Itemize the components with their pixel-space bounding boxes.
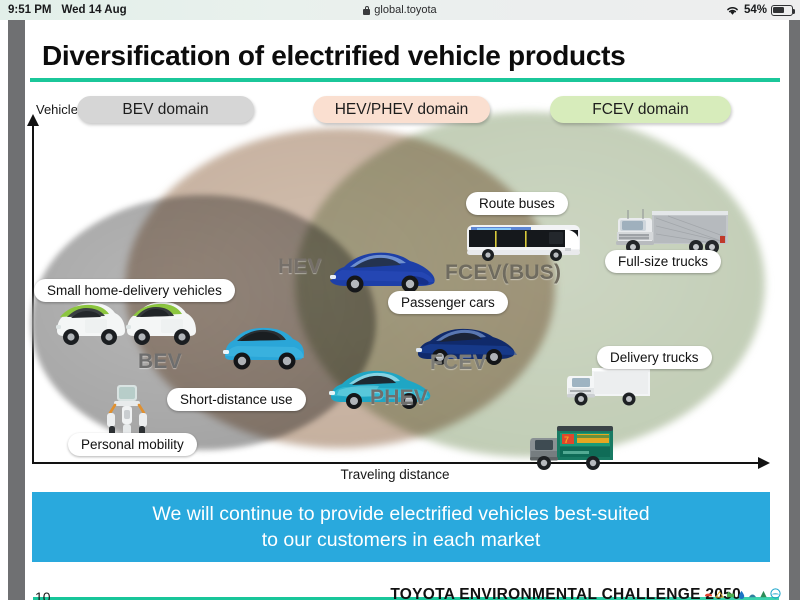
domain-pill-fcev[interactable]: FCEV domain	[550, 96, 731, 123]
banner-line-1: We will continue to provide electrified …	[152, 501, 649, 527]
chart-area: Vehicle size Traveling distance	[25, 100, 789, 490]
challenge-icon-car	[704, 590, 713, 599]
category-label-fcev: FCEV	[430, 351, 487, 375]
x-axis-line	[32, 462, 760, 464]
address-bar[interactable]: global.toyota	[0, 0, 800, 20]
callout-small-home-delivery-vehicles[interactable]: Small home-delivery vehicles	[34, 279, 235, 302]
battery-icon	[771, 5, 793, 16]
callout-delivery-trucks[interactable]: Delivery trucks	[597, 346, 712, 369]
address-bar-url: global.toyota	[374, 4, 436, 16]
bev-small-car-image	[220, 324, 308, 371]
callout-route-buses[interactable]: Route buses	[466, 192, 568, 215]
home-delivery-vehicle-b-image	[119, 295, 199, 352]
challenge-icon-recycle	[748, 590, 757, 599]
wifi-icon	[725, 5, 740, 16]
lock-icon	[363, 6, 370, 15]
footer-brand: TOYOTA ENVIRONMENTAL CHALLENGE 2050	[390, 586, 741, 600]
status-bar-right: 54%	[725, 0, 793, 20]
challenge-icon-water	[737, 590, 746, 599]
category-label-bev: BEV	[138, 350, 182, 374]
fcev-bus-image	[465, 217, 584, 264]
svg-text:7: 7	[564, 435, 569, 445]
delivery-truck-green-image: 7	[525, 422, 615, 476]
callout-short-distance-use[interactable]: Short-distance use	[167, 388, 306, 411]
page-title: Diversification of electrified vehicle p…	[42, 40, 625, 72]
x-axis-label: Traveling distance	[25, 467, 765, 482]
footer-challenge-icons	[704, 588, 781, 599]
window-edge-left	[0, 20, 8, 600]
domain-pill-hev-phev[interactable]: HEV/PHEV domain	[313, 96, 490, 123]
page-number: 10	[35, 589, 51, 600]
category-label-hev: HEV	[278, 255, 322, 279]
delivery-truck-white-image	[562, 364, 653, 410]
browser-gutter-left	[8, 20, 25, 600]
challenge-icon-globe	[770, 588, 781, 599]
category-label-phev: PHEV	[370, 386, 428, 410]
banner-line-2: to our customers in each market	[262, 527, 541, 553]
callout-passenger-cars[interactable]: Passenger cars	[388, 291, 508, 314]
domain-pill-bev[interactable]: BEV domain	[77, 96, 254, 123]
hev-sedan-image	[326, 246, 438, 294]
home-delivery-vehicle-a-image	[47, 297, 127, 352]
battery-percent: 54%	[744, 4, 767, 16]
category-label-fcev-bus: FCEV(BUS)	[445, 261, 561, 285]
ipad-status-bar: 9:51 PM Wed 14 Aug global.toyota 54%	[0, 0, 800, 20]
slide-page: Diversification of electrified vehicle p…	[25, 20, 789, 600]
challenge-icon-factory	[726, 590, 735, 599]
callout-personal-mobility[interactable]: Personal mobility	[68, 433, 197, 456]
summary-banner: We will continue to provide electrified …	[32, 492, 770, 562]
challenge-icon-tree	[759, 590, 768, 599]
challenge-icon-triangle	[715, 590, 724, 599]
title-underline	[30, 78, 780, 82]
callout-full-size-trucks[interactable]: Full-size trucks	[605, 250, 721, 273]
browser-gutter-right	[789, 20, 800, 600]
